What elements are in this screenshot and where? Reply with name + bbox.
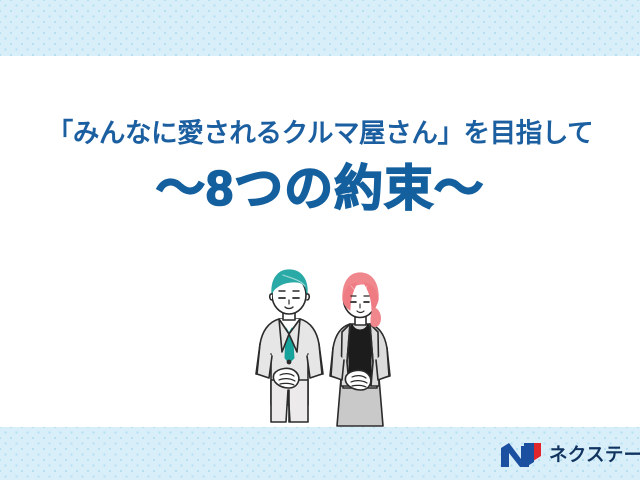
female-staff-bowing	[330, 273, 390, 426]
brand-logo-text: ネクステージ	[549, 446, 640, 465]
headline-block: 「みんなに愛されるクルマ屋さん」を目指して ～8つの約束～	[0, 118, 640, 220]
headline-line-secondary: ～8つの約束～	[0, 159, 640, 220]
brand-logo: ネクステージ	[500, 441, 640, 469]
nextage-n-mark	[500, 442, 542, 468]
male-staff-bowing	[256, 270, 323, 422]
bowing-staff-illustration	[238, 262, 412, 430]
top-dot-band	[0, 0, 640, 56]
promo-banner: 「みんなに愛されるクルマ屋さん」を目指して ～8つの約束～	[0, 0, 640, 480]
headline-line-primary: 「みんなに愛されるクルマ屋さん」を目指して	[0, 118, 640, 150]
